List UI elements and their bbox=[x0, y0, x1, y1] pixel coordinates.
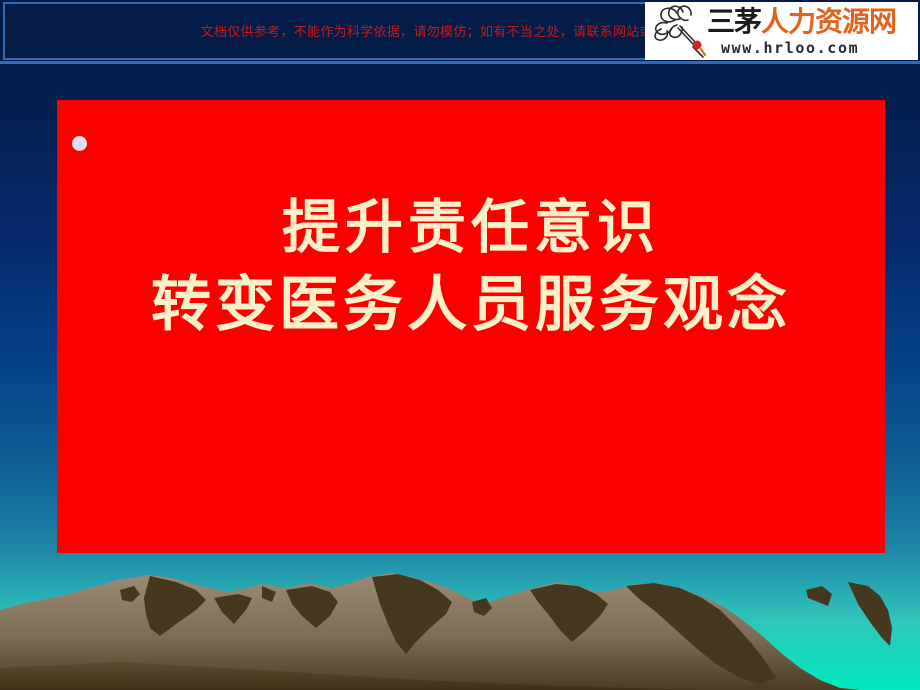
mountain-landscape-graphic bbox=[0, 550, 920, 690]
bullet-dot-icon bbox=[72, 136, 87, 151]
flower-sketch-icon bbox=[647, 3, 713, 59]
title-line-2: 转变医务人员服务观念 bbox=[57, 266, 885, 344]
logo-title: 三茅人力资源网 bbox=[707, 5, 915, 38]
logo-name-warm: 人力资源网 bbox=[761, 5, 896, 38]
header-underline bbox=[0, 61, 920, 64]
logo-name-dark: 三茅 bbox=[707, 5, 761, 38]
title-line-1: 提升责任意识 bbox=[57, 188, 885, 266]
watermark-logo[interactable]: 三茅人力资源网 www.hrloo.com bbox=[645, 2, 918, 60]
slide-canvas: 文档仅供参考，不能作为科学依据，请勿模仿；如有不当之处，请联系网站或本人删除。 … bbox=[0, 0, 920, 690]
content-panel: 提升责任意识 转变医务人员服务观念 bbox=[57, 100, 885, 553]
title-block: 提升责任意识 转变医务人员服务观念 bbox=[57, 188, 885, 344]
logo-url: www.hrloo.com bbox=[721, 39, 859, 57]
